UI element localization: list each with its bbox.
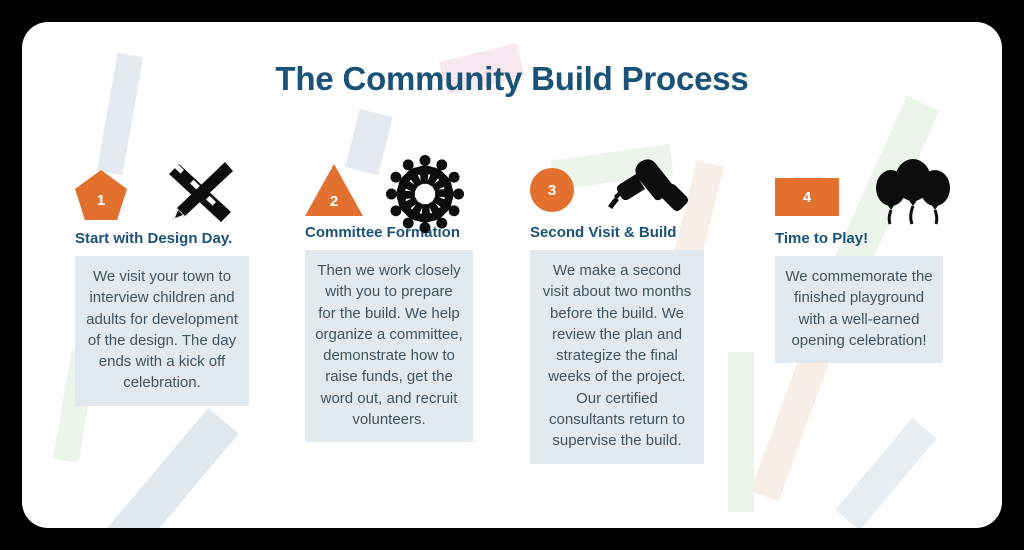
step-card-3: 3 Second Visit & Build We make: [530, 146, 704, 464]
step-4-badge-row: 4: [775, 152, 943, 224]
step-3-body: We make a second visit about two months …: [530, 250, 704, 464]
step-4-number-badge: 4: [775, 178, 839, 216]
ruler-pencil-icon: [155, 154, 241, 229]
page-title: The Community Build Process: [22, 60, 1002, 98]
step-1-badge-row: 1: [75, 152, 249, 224]
power-drill-icon: [606, 156, 692, 223]
screenshot-canvas: The Community Build Process 1: [0, 0, 1024, 550]
step-2-number: 2: [330, 193, 338, 210]
step-1-number-badge: 1: [75, 170, 127, 220]
balloons-icon: [871, 156, 955, 231]
step-1-body: We visit your town to interview children…: [75, 256, 249, 406]
step-2-badge-row: 2: [305, 146, 473, 218]
decorative-bar-green-bottomright: [728, 352, 754, 512]
step-1-heading: Start with Design Day.: [75, 230, 249, 247]
step-3-heading: Second Visit & Build: [530, 224, 704, 241]
step-2-number-badge: 2: [305, 164, 363, 216]
step-3-number: 3: [548, 182, 556, 199]
step-4-number: 4: [803, 189, 811, 206]
step-3-badge-row: 3: [530, 146, 704, 218]
decorative-bar-blue-bottomright: [835, 418, 937, 528]
step-card-4: 4: [775, 152, 943, 363]
step-3-number-badge: 3: [530, 168, 574, 212]
people-circle-icon: [383, 152, 467, 241]
decorative-bar-blue-bottomleft: [105, 408, 238, 528]
step-1-number: 1: [97, 192, 105, 209]
infographic-card: The Community Build Process 1: [22, 22, 1002, 528]
step-4-heading: Time to Play!: [775, 230, 943, 247]
step-2-body: Then we work closely with you to prepare…: [305, 250, 473, 442]
step-4-body: We commemorate the finished playground w…: [775, 256, 943, 363]
step-card-2: 2: [305, 146, 473, 442]
step-card-1: 1: [75, 152, 249, 406]
